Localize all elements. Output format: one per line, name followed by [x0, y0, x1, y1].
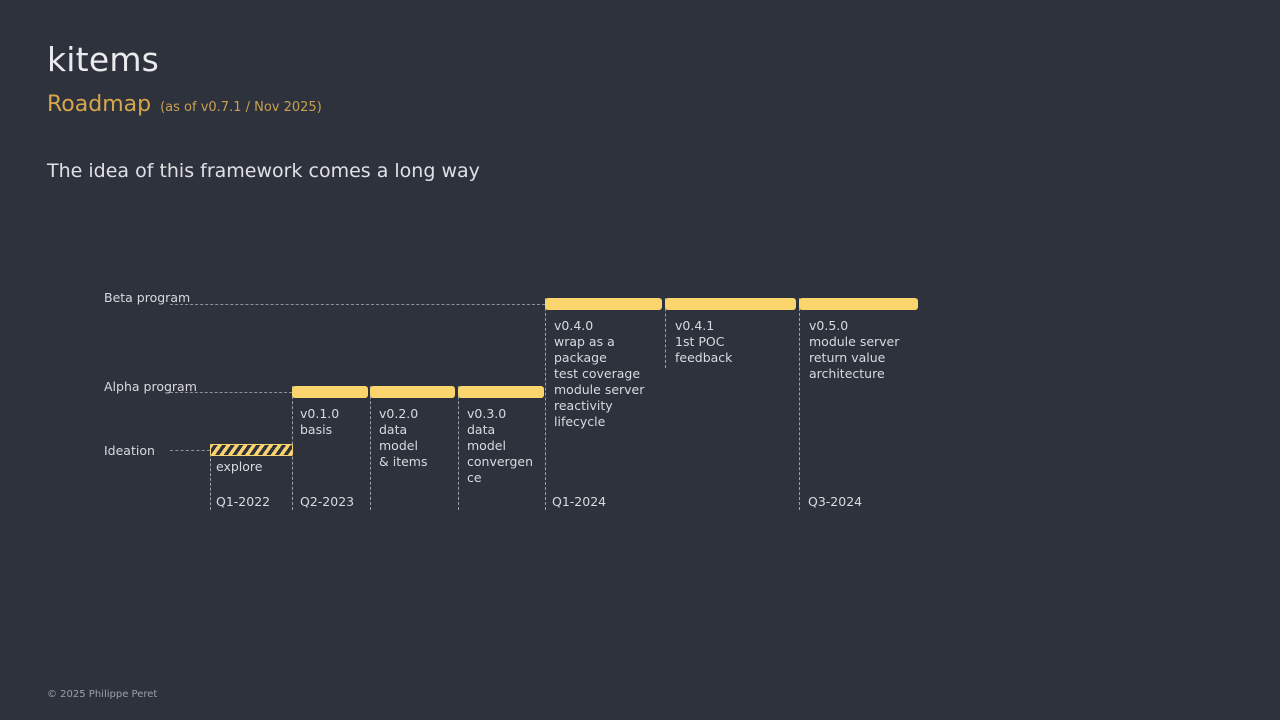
milestone-version-v020: v0.2.0	[379, 406, 418, 422]
milestone-version-v050: v0.5.0	[809, 318, 848, 334]
axis-tick-q1-2022: Q1-2022	[216, 496, 270, 509]
bar-beta-v040[interactable]	[545, 298, 662, 310]
roadmap-chart: Beta program Alpha program Ideation expl…	[0, 0, 1280, 720]
bar-alpha-v010[interactable]	[292, 386, 368, 398]
milestone-desc-v041: 1st POC feedback	[675, 334, 732, 366]
bar-beta-v050[interactable]	[799, 298, 918, 310]
milestone-version-v040: v0.4.0	[554, 318, 593, 334]
gridline-q1-2024	[545, 298, 546, 510]
milestone-desc-v010: basis	[300, 422, 332, 438]
gridline-q3-2024	[799, 298, 800, 510]
axis-tick-q1-2024: Q1-2024	[552, 496, 606, 509]
bar-alpha-v030[interactable]	[458, 386, 544, 398]
axis-tick-q2-2023: Q2-2023	[300, 496, 354, 509]
bar-alpha-v020[interactable]	[370, 386, 455, 398]
leader-line-beta	[170, 304, 545, 305]
milestone-desc-v050: module server return value architecture	[809, 334, 899, 382]
row-label-ideation: Ideation	[104, 443, 199, 459]
bar-beta-v041[interactable]	[665, 298, 796, 310]
gridline-v030	[458, 386, 459, 510]
leader-line-alpha	[170, 392, 292, 393]
milestone-version-v030: v0.3.0	[467, 406, 506, 422]
leader-line-ideation	[170, 450, 210, 451]
milestone-version-v010: v0.1.0	[300, 406, 339, 422]
axis-tick-q3-2024: Q3-2024	[808, 496, 862, 509]
milestone-version-v041: v0.4.1	[675, 318, 714, 334]
milestone-desc-v030: data model convergen ce	[467, 422, 533, 486]
bar-ideation-explore[interactable]	[210, 444, 293, 456]
milestone-desc-v040: wrap as a package test coverage module s…	[554, 334, 644, 430]
milestone-desc-v020: data model & items	[379, 422, 427, 470]
milestone-label-explore: explore	[216, 459, 262, 475]
footer-copyright: © 2025 Philippe Peret	[47, 689, 157, 700]
gridline-v020	[370, 386, 371, 510]
